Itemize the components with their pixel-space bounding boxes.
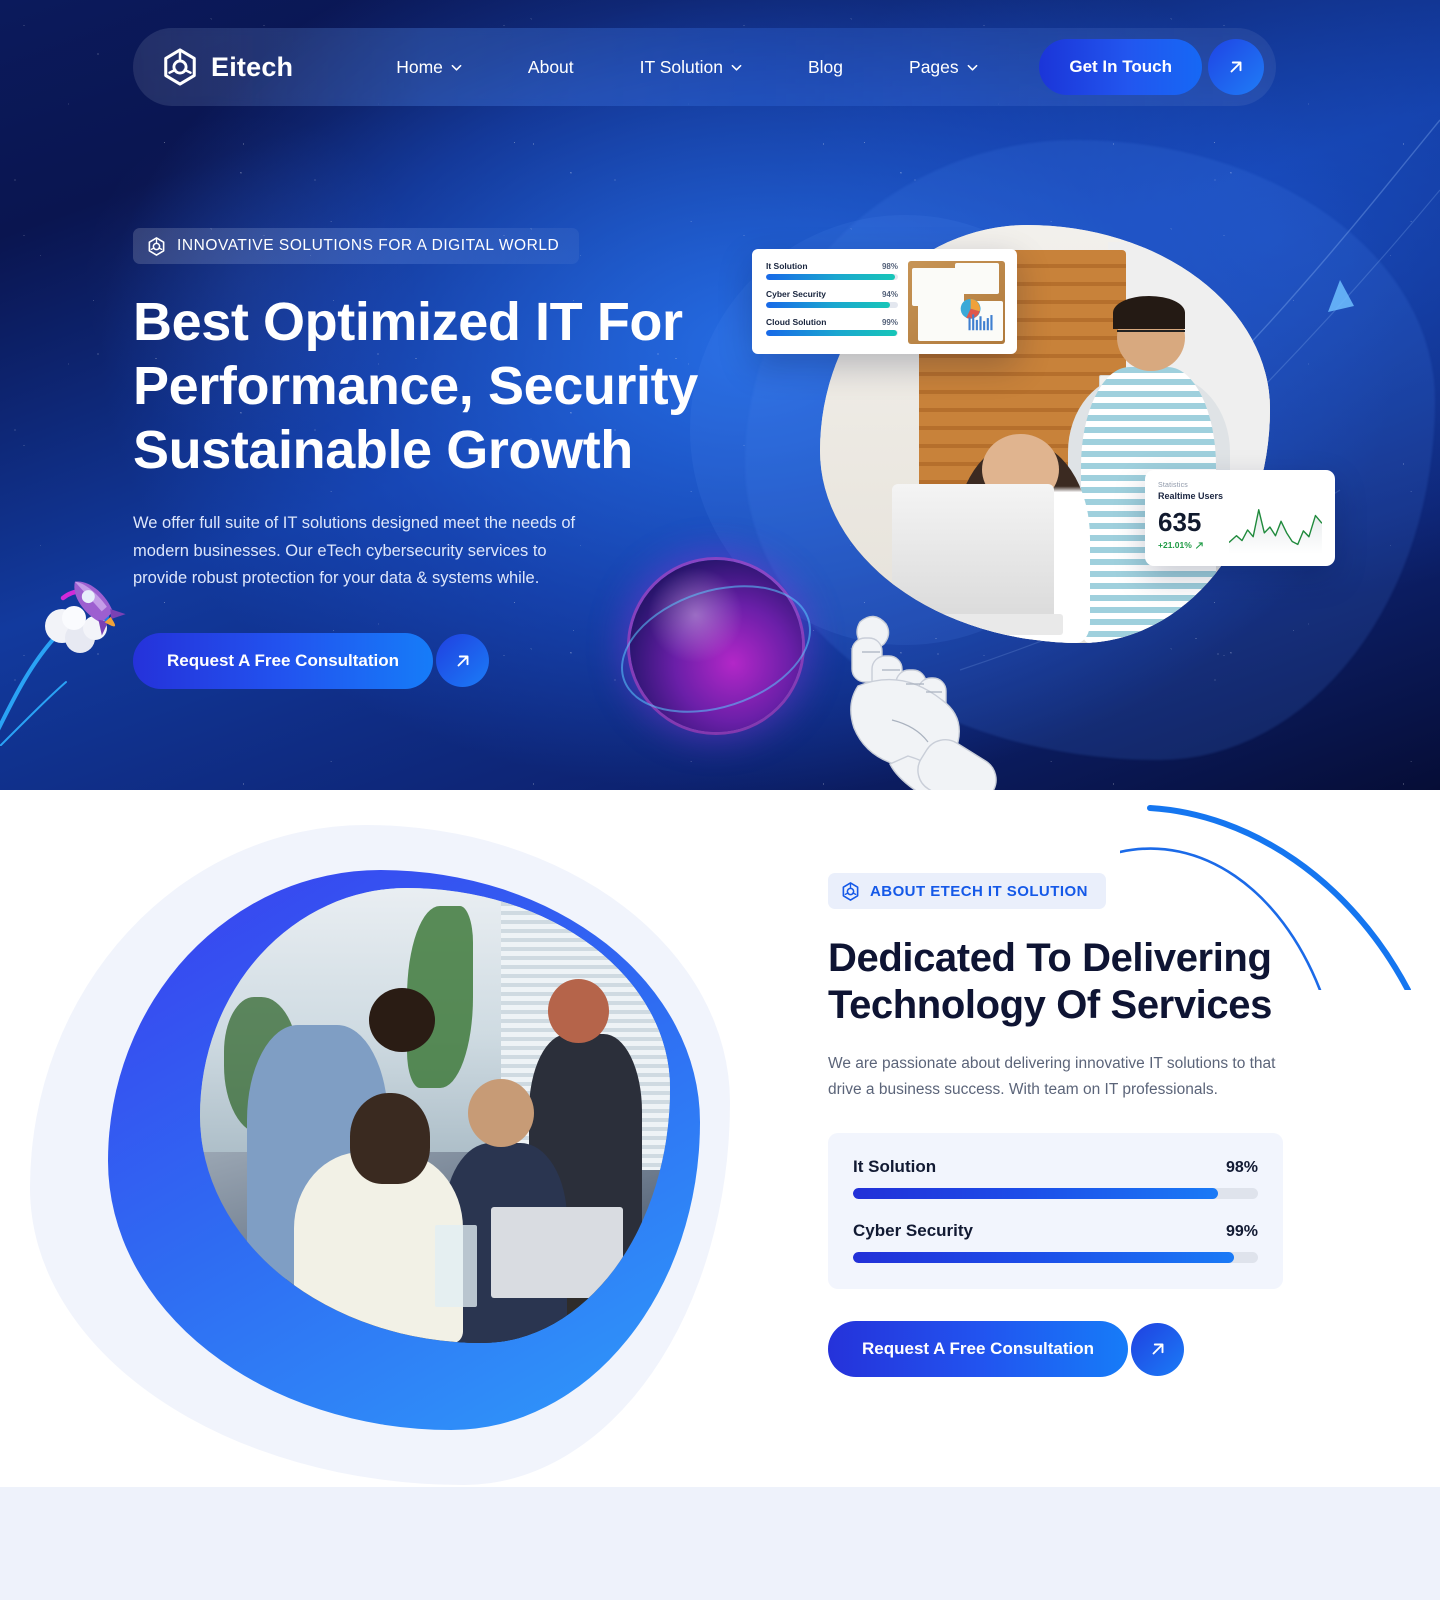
chevron-down-icon <box>731 62 742 73</box>
main-navbar: Eitech Home About IT Solution Blog Pages <box>133 28 1276 106</box>
hero-title-line-3: Sustainable Growth <box>133 420 633 480</box>
hero-skill-fill <box>766 302 890 308</box>
hero-skill-list: It Solution 98% Cyber Security 94% Clo <box>766 261 898 344</box>
hero-skill-track <box>766 274 898 280</box>
nav-link-label: About <box>528 57 574 78</box>
nav-links: Home About IT Solution Blog Pages <box>363 57 1010 78</box>
hero-stats-value: 635 <box>1158 509 1223 535</box>
nav-link-label: IT Solution <box>640 57 723 78</box>
arrow-up-right-icon <box>1148 1339 1168 1359</box>
nav-link-label: Blog <box>808 57 843 78</box>
about-request-consultation-arrow-button[interactable] <box>1131 1323 1184 1376</box>
get-in-touch-arrow-button[interactable] <box>1208 39 1264 95</box>
hero-title-line-1: Best Optimized IT For <box>133 292 683 352</box>
nav-link-it-solution[interactable]: IT Solution <box>607 57 775 78</box>
brand-logo[interactable]: Eitech <box>161 48 293 86</box>
about-cta-group: Request A Free Consultation <box>828 1321 1298 1377</box>
hero-stats-title: Realtime Users <box>1158 491 1223 501</box>
hero-skill-name: Cloud Solution <box>766 317 826 327</box>
hero-skill-fill <box>766 274 895 280</box>
about-title: Dedicated To Delivering Technology Of Se… <box>828 935 1298 1029</box>
hero-skill-card: It Solution 98% Cyber Security 94% Clo <box>752 249 1017 354</box>
hero-skill-percent: 94% <box>882 290 898 299</box>
hero-skill-name: Cyber Security <box>766 289 826 299</box>
about-description: We are passionate about delivering innov… <box>828 1051 1283 1103</box>
bottom-section-strip <box>0 1487 1440 1600</box>
about-progress-track <box>853 1252 1258 1263</box>
nav-link-blog[interactable]: Blog <box>775 57 876 78</box>
rocket-illustration-icon <box>0 556 180 746</box>
chevron-down-icon <box>451 62 462 73</box>
about-progress-row: It Solution 98% <box>853 1157 1258 1199</box>
about-team-photo <box>200 888 670 1343</box>
about-badge: ABOUT ETECH IT SOLUTION <box>828 873 1106 909</box>
about-title-line-1: Dedicated To Delivering <box>828 936 1272 980</box>
hero-stats-sparkline-chart <box>1223 482 1322 554</box>
robot-hand-illustration <box>800 560 1050 790</box>
about-progress-card: It Solution 98% Cyber Security 99% <box>828 1133 1283 1289</box>
about-request-consultation-button[interactable]: Request A Free Consultation <box>828 1321 1128 1377</box>
hero-skill-thumbnail-image <box>908 261 1005 344</box>
about-content: ABOUT ETECH IT SOLUTION Dedicated To Del… <box>828 873 1298 1377</box>
hero-skill-track <box>766 302 898 308</box>
chevron-down-icon <box>967 62 978 73</box>
about-badge-label: ABOUT ETECH IT SOLUTION <box>870 883 1088 900</box>
hero-stats-card: Statistics Realtime Users 635 +21.01% <box>1145 470 1335 566</box>
about-progress-fill <box>853 1188 1218 1199</box>
hexagon-logo-icon <box>841 882 860 901</box>
hero-title: Best Optimized IT For Performance, Secur… <box>133 290 733 482</box>
about-progress-percent: 99% <box>1226 1223 1258 1241</box>
hero-stats-delta-value: +21.01% <box>1158 540 1192 550</box>
hero-skill-row: It Solution 98% <box>766 261 898 280</box>
nav-link-about[interactable]: About <box>495 57 607 78</box>
hero-stats-delta: +21.01% <box>1158 540 1223 550</box>
hero-skill-fill <box>766 330 897 336</box>
about-progress-percent: 98% <box>1226 1159 1258 1177</box>
about-progress-fill <box>853 1252 1234 1263</box>
hero-badge: INNOVATIVE SOLUTIONS FOR A DIGITAL WORLD <box>133 228 579 264</box>
trend-up-icon <box>1195 541 1204 550</box>
about-progress-name: It Solution <box>853 1157 936 1177</box>
hexagon-logo-icon <box>161 48 199 86</box>
hexagon-logo-icon <box>147 237 166 256</box>
nav-link-pages[interactable]: Pages <box>876 57 1011 78</box>
nav-link-home[interactable]: Home <box>363 57 495 78</box>
nav-link-label: Home <box>396 57 443 78</box>
hero-skill-name: It Solution <box>766 261 808 271</box>
hero-section: Eitech Home About IT Solution Blog Pages <box>0 0 1440 790</box>
arrow-up-right-icon <box>1226 57 1246 77</box>
about-progress-row: Cyber Security 99% <box>853 1221 1258 1263</box>
hero-stats-label: Statistics <box>1158 482 1223 489</box>
about-progress-track <box>853 1188 1258 1199</box>
nav-cta-group: Get In Touch <box>1039 39 1264 95</box>
hero-skill-row: Cloud Solution 99% <box>766 317 898 336</box>
hero-badge-label: INNOVATIVE SOLUTIONS FOR A DIGITAL WORLD <box>177 237 559 255</box>
hero-skill-percent: 98% <box>882 262 898 271</box>
hero-skill-row: Cyber Security 94% <box>766 289 898 308</box>
about-title-line-2: Technology Of Services <box>828 983 1272 1027</box>
arrow-up-right-icon <box>453 651 473 671</box>
get-in-touch-button[interactable]: Get In Touch <box>1039 39 1202 95</box>
nav-link-label: Pages <box>909 57 959 78</box>
hero-title-line-2: Performance, Security <box>133 356 698 416</box>
hero-description: We offer full suite of IT solutions desi… <box>133 510 603 593</box>
hero-skill-track <box>766 330 898 336</box>
brand-name: Eitech <box>211 52 293 83</box>
hero-stats-text: Statistics Realtime Users 635 +21.01% <box>1158 482 1223 554</box>
hero-request-consultation-arrow-button[interactable] <box>436 634 489 687</box>
about-progress-name: Cyber Security <box>853 1221 973 1241</box>
hero-skill-percent: 99% <box>882 318 898 327</box>
